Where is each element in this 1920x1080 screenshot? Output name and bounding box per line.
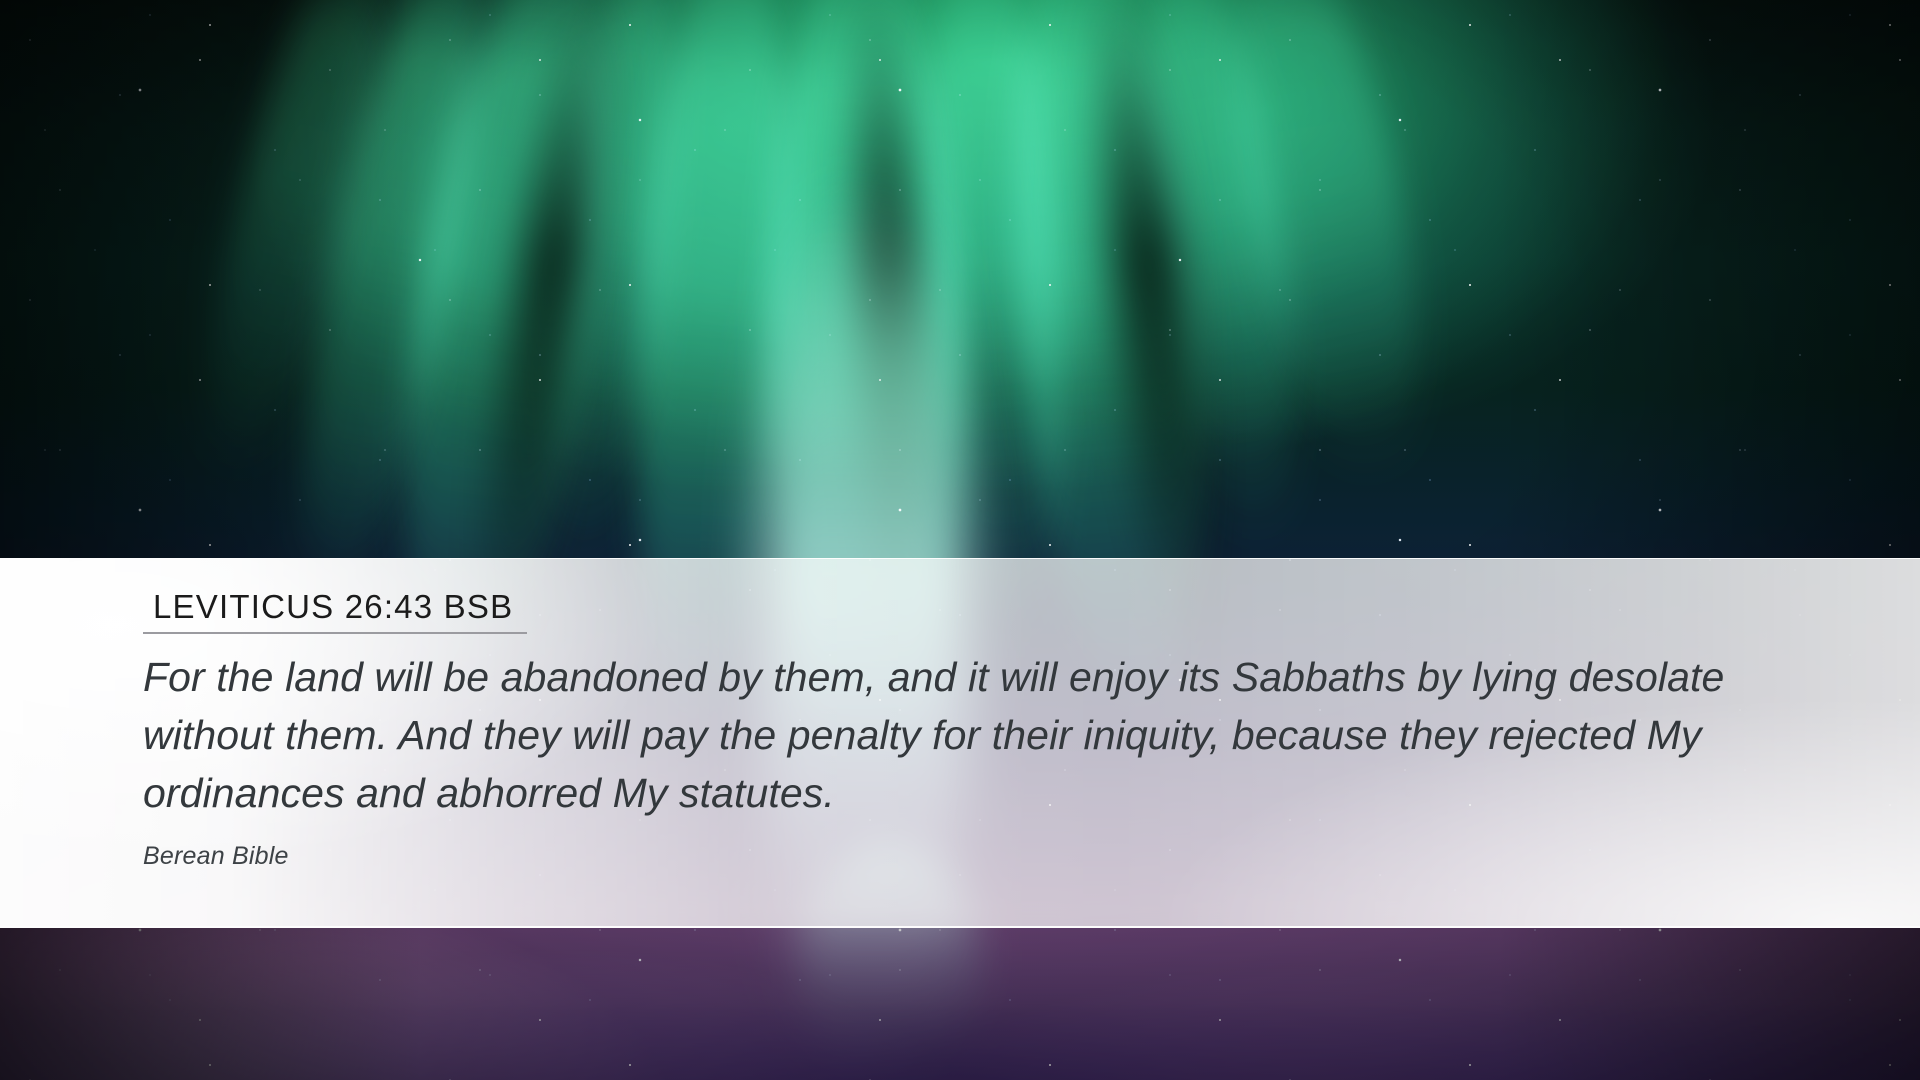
wallpaper-canvas: LEVITICUS 26:43 BSB For the land will be… xyxy=(0,0,1920,1080)
verse-text: For the land will be abandoned by them, … xyxy=(143,648,1763,822)
verse-reference: LEVITICUS 26:43 BSB xyxy=(143,587,527,634)
verse-content: LEVITICUS 26:43 BSB For the land will be… xyxy=(0,559,1920,871)
verse-attribution: Berean Bible xyxy=(143,842,1920,871)
verse-overlay-band: LEVITICUS 26:43 BSB For the land will be… xyxy=(0,558,1920,928)
